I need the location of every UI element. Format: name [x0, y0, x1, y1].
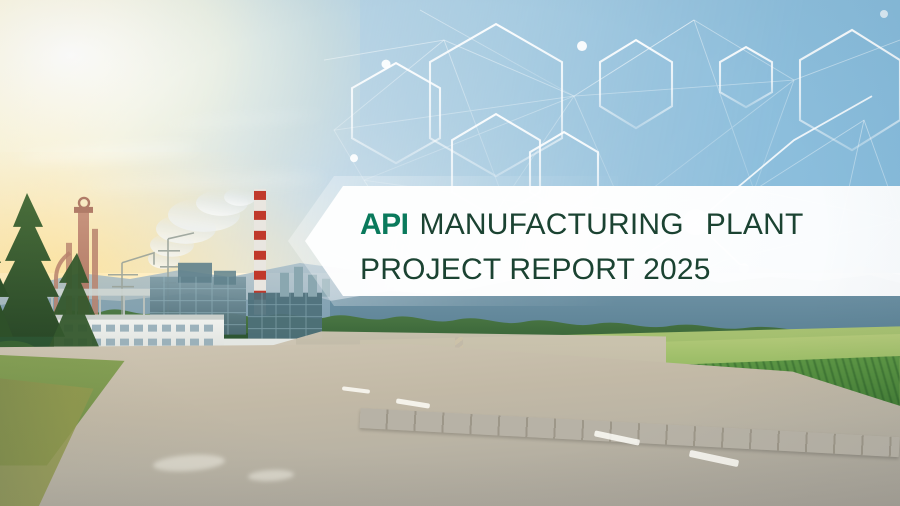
report-cover: APIMANUFACTURINGPLANT PROJECT REPORT 202…	[0, 0, 900, 506]
title-line-1-rest: MANUFACTURING	[420, 208, 684, 241]
title-line-1-tail: PLANT	[706, 208, 804, 241]
title-line-1: APIMANUFACTURINGPLANT	[360, 202, 900, 247]
title-line-2: PROJECT REPORT 2025	[360, 247, 900, 292]
title-banner: APIMANUFACTURINGPLANT PROJECT REPORT 202…	[305, 186, 900, 296]
brand-label: API	[360, 208, 409, 241]
